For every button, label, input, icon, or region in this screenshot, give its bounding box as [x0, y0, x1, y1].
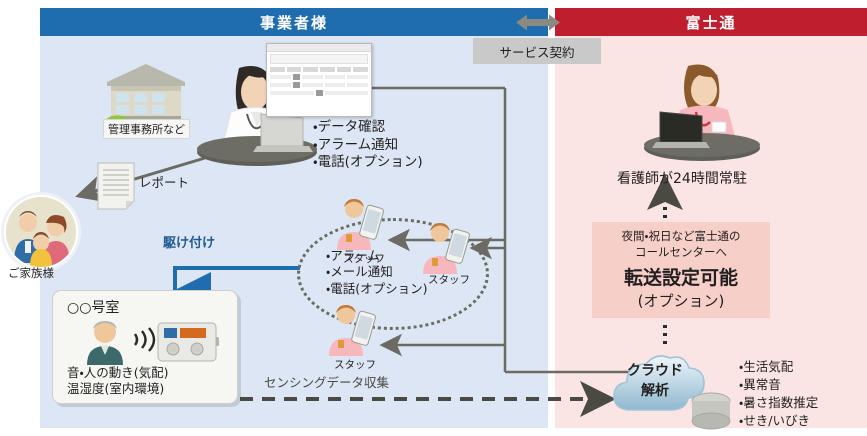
nurse-at-desk-icon	[640, 62, 768, 166]
room-card: ○○号室 音・人の動き(気配) 温湿度(室内環境)	[52, 290, 238, 404]
report-label: レポート	[139, 175, 189, 191]
sensor-device-icon	[157, 321, 219, 365]
family-label: ご家族様	[8, 266, 54, 281]
call-forward-box: 夜間・祝日など富士通の コールセンターへ 転送設定可能 (オプション)	[592, 222, 770, 318]
window-searchbar	[270, 54, 368, 64]
window-table-row	[270, 82, 368, 88]
window-table-row	[270, 74, 368, 80]
forward-option: (オプション)	[638, 290, 725, 311]
office-label: 管理事務所など	[103, 119, 190, 139]
elderly-person-icon	[83, 319, 127, 365]
forward-title: 転送設定可能	[624, 263, 738, 290]
staff-label: スタッフ	[428, 272, 470, 287]
analysis-items-text: ・生活気配 ・異常音 ・暑さ指数推定 ・せき/いびき	[739, 358, 818, 431]
forward-note: 夜間・祝日など富士通の コールセンターへ	[622, 229, 741, 260]
staff-with-smartphone-icon	[420, 222, 472, 278]
nurse-label: 看護師が24時間常駐	[617, 170, 747, 188]
building-icon	[103, 60, 189, 126]
wireless-signal-icon	[131, 327, 153, 353]
dispatch-label: 駆け付け	[163, 236, 215, 253]
staff-with-smartphone-icon	[326, 304, 378, 360]
staff-label: スタッフ	[334, 357, 376, 372]
provider-actions-text: ・データ確認 ・アラーム通知 ・電話(オプション)	[313, 119, 423, 172]
fujitsu-header-bar: 富士通	[555, 8, 867, 36]
family-photo-icon	[4, 195, 78, 269]
service-contract-label: サービス契約	[473, 38, 601, 64]
database-cylinder-icon	[690, 392, 732, 432]
window-table-header	[270, 67, 368, 72]
cloud-label-line1: クラウド	[627, 362, 683, 380]
staff-label: スタッフ	[343, 251, 385, 266]
provider-header-bar: 事業者様	[40, 8, 548, 36]
room-title: ○○号室	[67, 299, 119, 317]
document-icon	[98, 163, 134, 209]
room-sensing-text: 音・人の動き(気配) 温湿度(室内環境)	[67, 365, 169, 398]
window-titlebar	[267, 44, 371, 52]
window-table-row	[270, 90, 368, 96]
sensing-data-label: センシングデータ収集	[264, 375, 389, 391]
double-arrow-icon	[516, 14, 560, 31]
application-window-icon	[266, 43, 372, 117]
staff-with-smartphone-icon	[334, 198, 386, 254]
diagram-canvas: 事業者様 富士通	[0, 0, 867, 436]
cloud-label-line2: 解析	[641, 382, 669, 400]
